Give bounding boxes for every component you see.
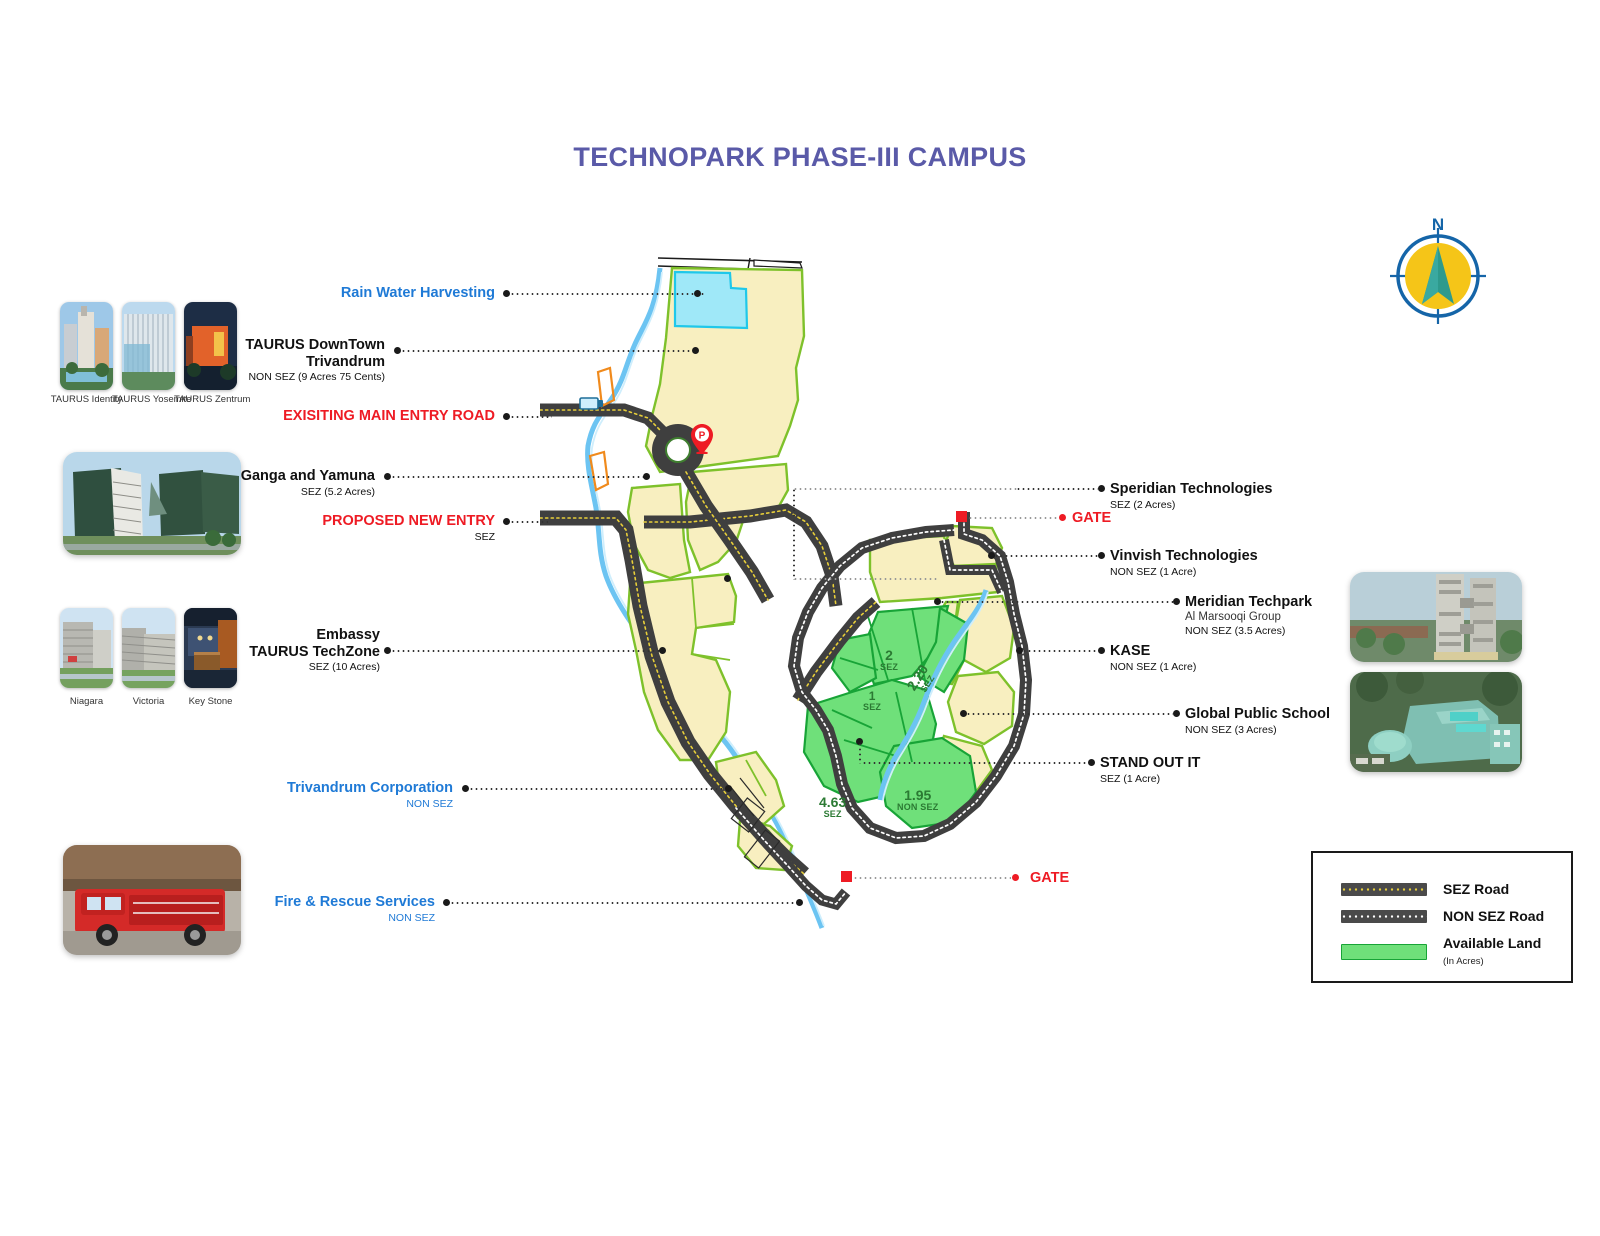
label-vinvish-technologies[interactable]: Vinvish Technologies NON SEZ (1 Acre) bbox=[1110, 548, 1258, 578]
label-fire-and-rescue-services[interactable]: Fire & Rescue Services NON SEZ bbox=[250, 894, 435, 924]
leader-dot-rain-water-harvesting bbox=[503, 290, 510, 297]
photo-ganga-and-yamuna[interactable] bbox=[63, 452, 241, 555]
leader-dot-speridian bbox=[1098, 485, 1105, 492]
thumbnail-key-stone[interactable] bbox=[184, 608, 237, 688]
leader-dot-global-public-school bbox=[1173, 710, 1180, 717]
leader-dot-fire-rescue bbox=[443, 899, 450, 906]
parcel-label-195-nonsez: 1.95 NON SEZ bbox=[897, 788, 938, 812]
map-dot-ganga-yamuna bbox=[643, 473, 650, 480]
leader-dot-existing-main-entry bbox=[503, 413, 510, 420]
parcel-label-1-sez: 1 SEZ bbox=[863, 690, 881, 712]
leader-proposed-new-entry bbox=[510, 521, 548, 523]
label-meridian-techpark[interactable]: Meridian Techpark Al Marsooqi Group NON … bbox=[1185, 594, 1312, 637]
leader-gate-north bbox=[968, 517, 1063, 519]
gate-marker-south[interactable] bbox=[841, 871, 852, 882]
thumbnail-taurus-yosemite[interactable] bbox=[122, 302, 175, 390]
map-dot-speridian bbox=[724, 575, 731, 582]
leader-speridian-drop bbox=[793, 488, 795, 580]
parking-pin-icon[interactable]: P bbox=[691, 424, 713, 454]
leader-kase bbox=[1022, 650, 1098, 652]
leader-meridian bbox=[940, 601, 1173, 603]
legend-item-non-sez-road: NON SEZ Road bbox=[1341, 908, 1544, 924]
label-global-public-school[interactable]: Global Public School NON SEZ (3 Acres) bbox=[1185, 706, 1330, 736]
leader-stand-out-it bbox=[862, 762, 1088, 764]
leader-speridian bbox=[1016, 488, 1098, 490]
label-proposed-new-entry[interactable]: PROPOSED NEW ENTRY SEZ bbox=[250, 513, 495, 543]
map-dot-global-public-school bbox=[960, 710, 967, 717]
leader-ganga-yamuna bbox=[391, 476, 644, 478]
label-kase[interactable]: KASE NON SEZ (1 Acre) bbox=[1110, 643, 1196, 673]
thumbnail-victoria[interactable] bbox=[122, 608, 175, 688]
page-title: TECHNOPARK PHASE-III CAMPUS bbox=[0, 142, 1600, 173]
leader-dot-meridian bbox=[1173, 598, 1180, 605]
label-stand-out-it[interactable]: STAND OUT IT SEZ (1 Acre) bbox=[1100, 755, 1200, 785]
leader-trivandrum-corporation bbox=[469, 788, 727, 790]
leader-dot-embassy-techzone bbox=[384, 647, 391, 654]
leader-dot-gate-north bbox=[1059, 514, 1066, 521]
thumbnail-caption-key-stone: Key Stone bbox=[174, 696, 247, 707]
photo-meridian-techpark[interactable] bbox=[1350, 572, 1522, 662]
label-speridian-technologies[interactable]: Speridian Technologies SEZ (2 Acres) bbox=[1110, 481, 1272, 511]
sez-road-swatch-icon bbox=[1341, 883, 1427, 896]
leader-taurus-downtown bbox=[401, 350, 693, 352]
map-dot-vinvish bbox=[988, 552, 995, 559]
leader-dot-stand-out-it bbox=[1088, 759, 1095, 766]
leader-dot-ganga-yamuna bbox=[384, 473, 391, 480]
legend-label-non-sez-road: NON SEZ Road bbox=[1443, 908, 1544, 924]
legend-item-available-land: Available Land (In Acres) bbox=[1341, 935, 1541, 969]
parcel-global-public-school[interactable] bbox=[948, 672, 1014, 744]
non-sez-road-swatch-icon bbox=[1341, 910, 1427, 923]
svg-text:P: P bbox=[699, 431, 706, 442]
leader-fire-rescue bbox=[450, 902, 798, 904]
map-dot-rain-water-harvesting bbox=[694, 290, 701, 297]
leader-vinvish bbox=[994, 555, 1098, 557]
gate-marker-north[interactable] bbox=[956, 511, 967, 522]
leader-dot-taurus-downtown bbox=[394, 347, 401, 354]
leader-gate-south bbox=[853, 877, 1011, 879]
legend-label-available-land: Available Land bbox=[1443, 935, 1541, 951]
map-dot-kase bbox=[1016, 647, 1023, 654]
leader-stand-out-it-v bbox=[859, 742, 861, 764]
leader-dot-kase bbox=[1098, 647, 1105, 654]
thumbnail-taurus-identity[interactable] bbox=[60, 302, 113, 390]
label-rain-water-harvesting[interactable]: Rain Water Harvesting bbox=[250, 285, 495, 302]
leader-speridian-ext bbox=[793, 488, 1018, 490]
available-land-swatch-icon bbox=[1341, 944, 1427, 960]
thumbnail-caption-taurus-zentrum: TAURUS Zentrum bbox=[174, 394, 247, 405]
leader-global-public-school bbox=[966, 713, 1173, 715]
thumbnail-niagara[interactable] bbox=[60, 608, 113, 688]
legend-sublabel-available-land: (In Acres) bbox=[1443, 956, 1484, 967]
compass-rose: N bbox=[1378, 212, 1498, 332]
leader-dot-gate-south bbox=[1012, 874, 1019, 881]
leader-dot-trivandrum-corporation bbox=[462, 785, 469, 792]
map-dot-meridian bbox=[934, 598, 941, 605]
thumbnail-taurus-zentrum[interactable] bbox=[184, 302, 237, 390]
map-legend: SEZ Road NON SEZ Road Available Land (In… bbox=[1311, 851, 1573, 983]
legend-label-sez-road: SEZ Road bbox=[1443, 881, 1509, 897]
gate-label-south: GATE bbox=[1030, 870, 1069, 886]
leader-dot-proposed-new-entry bbox=[503, 518, 510, 525]
label-trivandrum-corporation[interactable]: Trivandrum Corporation NON SEZ bbox=[250, 780, 453, 810]
map-dot-embassy-techzone bbox=[659, 647, 666, 654]
photo-fire-and-rescue[interactable] bbox=[63, 845, 241, 955]
campus-map[interactable]: .roadband{fill:none;stroke:#3f3f3f;} .se… bbox=[540, 240, 1100, 960]
parcel-label-463-sez: 4.63 SEZ bbox=[819, 795, 846, 819]
map-dot-trivandrum-corporation bbox=[725, 785, 732, 792]
leader-existing-main-entry bbox=[510, 416, 552, 418]
map-dot-fire-rescue bbox=[796, 899, 803, 906]
gate-label-north: GATE bbox=[1072, 510, 1111, 526]
label-existing-main-entry-road[interactable]: EXISITING MAIN ENTRY ROAD bbox=[250, 408, 495, 425]
photo-global-public-school[interactable] bbox=[1350, 672, 1522, 772]
parcel-label-2-sez: 2 SEZ bbox=[880, 648, 898, 672]
leader-embassy-techzone bbox=[391, 650, 661, 652]
map-dot-taurus-downtown bbox=[692, 347, 699, 354]
leader-speridian-drop2 bbox=[793, 578, 938, 580]
leader-dot-vinvish bbox=[1098, 552, 1105, 559]
leader-rain-water-harvesting bbox=[510, 293, 706, 295]
legend-item-sez-road: SEZ Road bbox=[1341, 881, 1509, 897]
